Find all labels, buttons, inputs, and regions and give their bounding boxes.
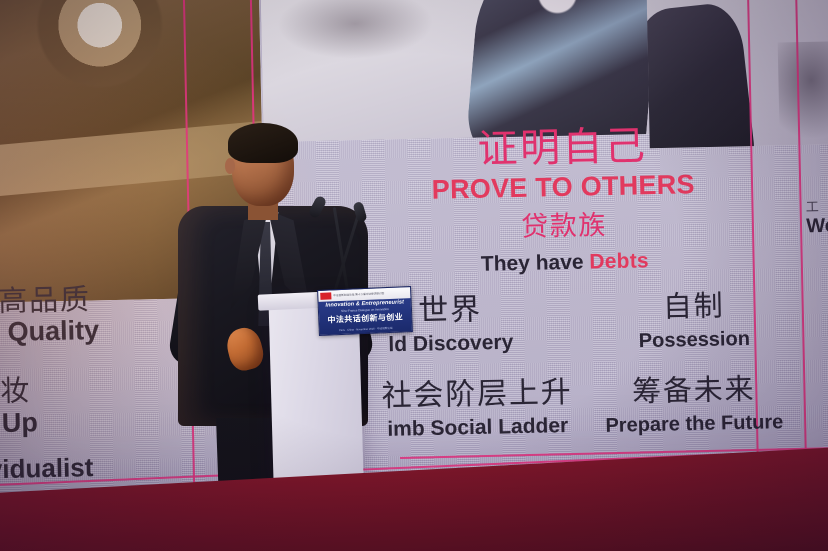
headline-zh: 证明自己: [430, 123, 694, 173]
event-logo-icon: [320, 292, 331, 299]
podium-event-sign: 中法创新创业论坛 第十二届中法经济研讨会 Innovation & Entrep…: [317, 286, 413, 336]
podium-sign-date-line: Paris · China · November 2016 · 中法创新论坛: [320, 325, 412, 333]
headline-en-sub-accent: Debts: [589, 249, 649, 273]
right-fragment-en: Wo: [806, 215, 828, 239]
left-row-1-en: Make Up: [0, 407, 38, 440]
pair-1-zh: 自制: [623, 291, 764, 326]
slide-photo-center: [260, 0, 653, 142]
headline-zh-sub: 贷款族: [432, 206, 696, 247]
headline-en-sub-plain: They have: [481, 250, 590, 275]
slide-pair-possession: 自制 Possession: [623, 291, 764, 356]
speaker-ear: [225, 158, 235, 174]
headline-en-sub: They have Debts: [433, 246, 697, 279]
right-fragment-zh: 工: [806, 196, 828, 216]
pair-3-en: Prepare the Future: [602, 409, 787, 440]
headline-en: PROVE TO OTHERS: [431, 169, 695, 206]
screenshot-stage: s 等同于高品质 = High Quality 平不化妆 Make Up 义 I…: [0, 0, 828, 551]
slide-headline-block: 证明自己 PROVE TO OTHERS 贷款族 They have Debts: [430, 123, 696, 279]
podium-sign-logo-caption: 中法创新创业论坛 第十二届中法经济研讨会: [333, 292, 384, 297]
speaker-hair: [228, 123, 298, 163]
slide-pair-prepare-the-future: 筹备未来 Prepare the Future: [601, 374, 786, 440]
left-row-0-en: = High Quality: [0, 315, 99, 350]
left-row-2-en: Individualist: [0, 452, 94, 486]
left-row-1-zh: 平不化妆: [0, 367, 31, 412]
slide-right-edge-fragment: 工 Wo: [806, 196, 828, 239]
pair-1-en: Possession: [624, 325, 765, 355]
pair-3-zh: 筹备未来: [601, 374, 786, 410]
